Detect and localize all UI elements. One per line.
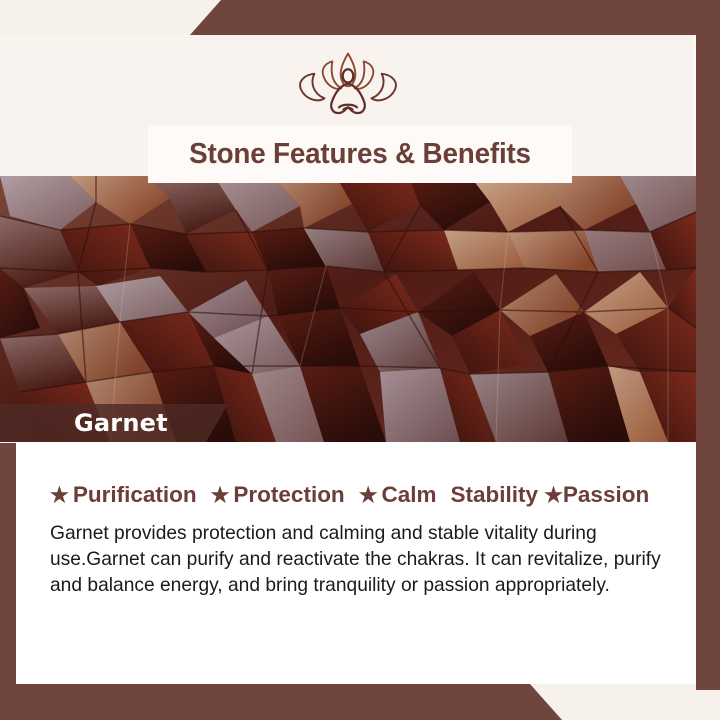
- benefits-list: ★Purification★Protection★CalmStability★P…: [50, 482, 690, 508]
- stone-photo: [0, 176, 696, 442]
- star-icon: ★: [50, 483, 69, 508]
- benefit-calm: ★Calm: [359, 482, 437, 508]
- lotus-meditation-icon: [292, 49, 404, 123]
- benefit-protection: ★Protection: [211, 482, 345, 508]
- stone-description: Garnet provides protection and calming a…: [50, 520, 690, 598]
- top-brown-bar: [0, 0, 720, 35]
- infographic-card: BUDDHA STONES Stone Features & Benefits: [0, 0, 720, 720]
- garnet-crystal-image: [0, 176, 696, 442]
- stone-name: Garnet: [74, 409, 168, 437]
- right-brown-border: [696, 35, 720, 690]
- bottom-brown-bar: [0, 684, 720, 720]
- benefit-purification: ★Purification: [50, 482, 197, 508]
- content-panel: ★Purification★Protection★CalmStability★P…: [16, 442, 696, 684]
- benefit-label: Purification: [73, 482, 197, 507]
- benefit-label: Passion: [563, 482, 649, 507]
- benefit-stability: Stability: [451, 482, 539, 508]
- benefit-label: Protection: [233, 482, 344, 507]
- benefit-passion: ★Passion: [544, 482, 649, 508]
- title-banner: Stone Features & Benefits: [148, 126, 572, 183]
- left-brown-border: [0, 443, 16, 693]
- page-title: Stone Features & Benefits: [189, 138, 531, 171]
- star-icon: ★: [211, 483, 230, 508]
- benefit-label: Calm: [382, 482, 437, 507]
- star-icon: ★: [359, 483, 378, 508]
- star-icon: ★: [544, 483, 563, 508]
- stone-name-bar: Garnet: [0, 404, 228, 442]
